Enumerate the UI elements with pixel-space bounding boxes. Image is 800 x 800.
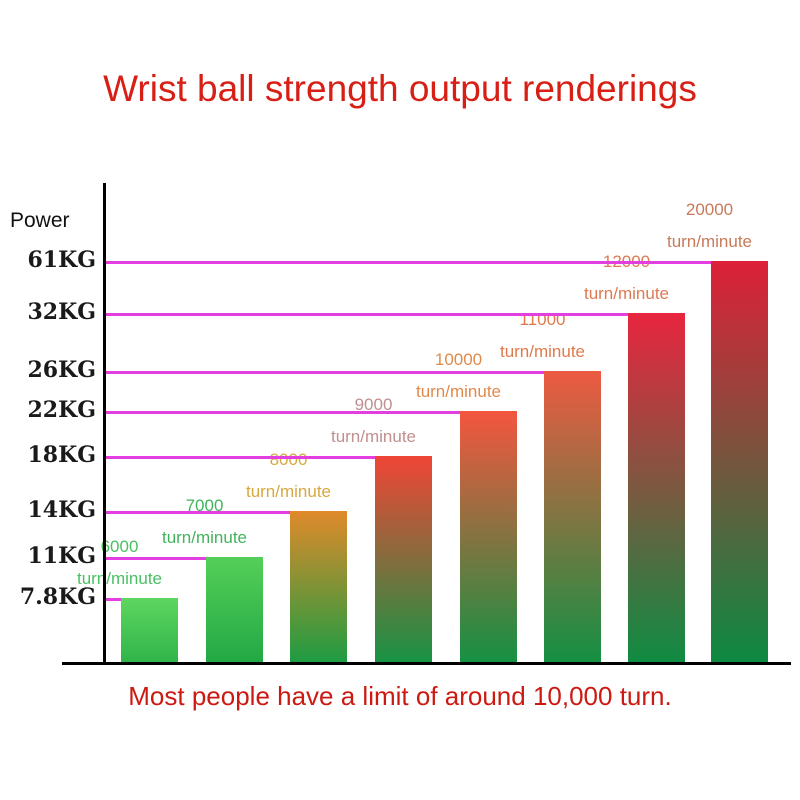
- gridline: [103, 557, 210, 560]
- bar-label: 7000turn/minute: [146, 497, 263, 546]
- x-axis-line: [62, 662, 791, 665]
- chart-caption: Most people have a limit of around 10,00…: [0, 681, 800, 712]
- plot-area: 6000turn/minute7000turn/minute8000turn/m…: [0, 0, 800, 663]
- y-tick-label: 22KG: [0, 397, 96, 423]
- gridline: [103, 371, 548, 374]
- bar: [206, 557, 263, 663]
- bar-label-rpm: 8000: [230, 451, 347, 468]
- bar-label: 9000turn/minute: [315, 396, 432, 445]
- bar-label-unit: turn/minute: [230, 483, 347, 500]
- bar: [290, 511, 347, 663]
- y-tick-label: 7.8KG: [0, 584, 96, 610]
- gridline: [103, 313, 632, 316]
- gridline: [103, 511, 294, 514]
- gridline: [103, 411, 464, 414]
- gridline: [103, 261, 715, 264]
- bar-label-unit: turn/minute: [651, 233, 768, 250]
- bar: [375, 456, 432, 663]
- bar: [711, 261, 768, 663]
- y-tick-label: 14KG: [0, 497, 96, 523]
- y-tick-label: 26KG: [0, 357, 96, 383]
- bar-label-unit: turn/minute: [568, 285, 685, 302]
- y-axis-title: Power: [10, 209, 70, 233]
- y-tick-label: 61KG: [0, 247, 96, 273]
- y-tick-label: 18KG: [0, 442, 96, 468]
- y-axis-line: [103, 183, 106, 665]
- bar-label-unit: turn/minute: [146, 529, 263, 546]
- bar-label: 20000turn/minute: [651, 201, 768, 250]
- bar-label-rpm: 20000: [651, 201, 768, 218]
- bar-label: 11000turn/minute: [484, 311, 601, 360]
- bar-label-unit: turn/minute: [400, 383, 517, 400]
- bar: [460, 411, 517, 663]
- bar: [544, 371, 601, 663]
- bar: [121, 598, 178, 663]
- bar-label-unit: turn/minute: [484, 343, 601, 360]
- gridline: [103, 456, 379, 459]
- bar-label-unit: turn/minute: [315, 428, 432, 445]
- y-tick-label: 32KG: [0, 299, 96, 325]
- chart-page: Wrist ball strength output renderings 60…: [0, 0, 800, 800]
- bar: [628, 313, 685, 663]
- y-tick-label: 11KG: [0, 543, 96, 569]
